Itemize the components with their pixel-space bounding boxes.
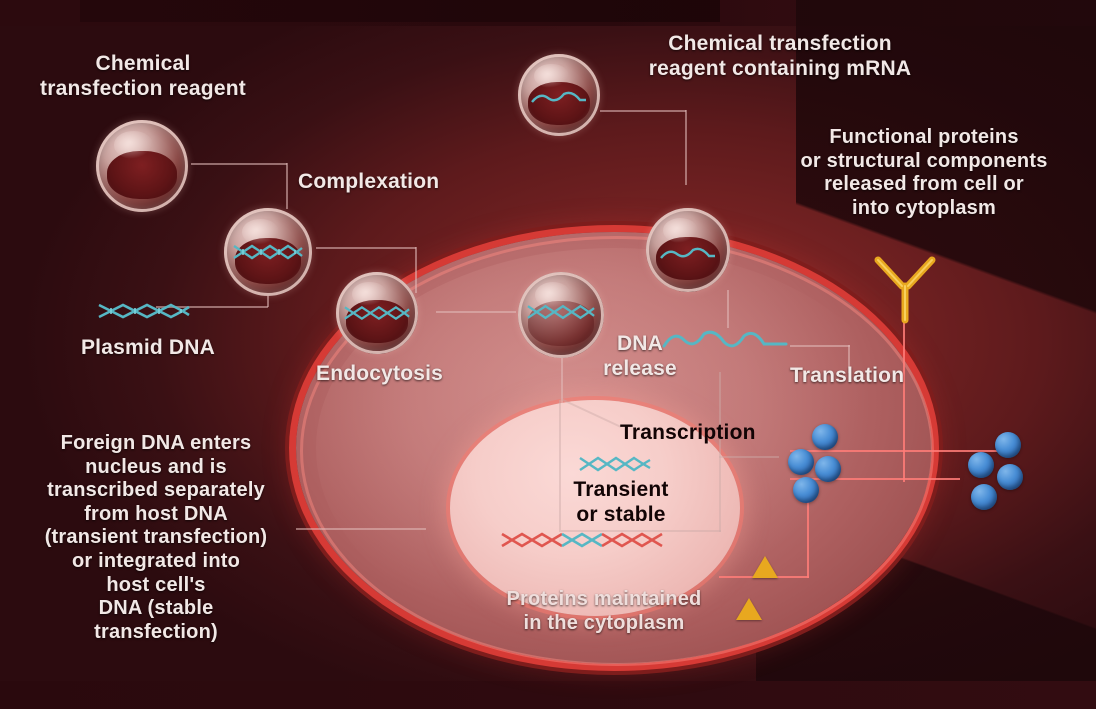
mrna-strand-icon: [530, 90, 588, 106]
connector-membrane-to-mrna: [727, 290, 729, 328]
label-endocytosis: Endocytosis: [316, 362, 443, 387]
connector-protein-export-bottom: [790, 478, 960, 480]
connector-complex-to-endocytosis-drop: [415, 247, 417, 293]
vesicle-mrna-outside[interactable]: [518, 54, 600, 136]
label-translation: Translation: [790, 364, 904, 389]
mrna-strand-icon: [658, 246, 718, 262]
connector-mrna-to-translation: [790, 345, 850, 347]
connector-transcript-to-translation: [719, 456, 779, 458]
connector-reagent-to-complex-drop: [286, 163, 288, 209]
bottom-background-band: [0, 681, 1096, 709]
connector-foreign-dna-to-nucleus: [296, 528, 426, 530]
dna-strand-icon: [343, 303, 411, 323]
label-complexation: Complexation: [298, 170, 439, 195]
connector-protein-export-top: [790, 450, 998, 452]
dna-strand-icon: [526, 302, 596, 322]
protein-bead-icon: [968, 452, 994, 478]
connector-mrna-outside: [600, 110, 686, 112]
protein-bead-icon: [995, 432, 1021, 458]
diagram-canvas: Chemical transfection reagent Plasmid DN…: [0, 0, 1096, 709]
connector-reagent-to-complex: [191, 163, 287, 165]
protein-triangle-icon: [752, 556, 778, 578]
protein-bead-icon: [788, 449, 814, 475]
vesicle-highlight: [114, 131, 153, 159]
vesicle-mrna-at-membrane[interactable]: [646, 208, 730, 292]
label-functional-proteins: Functional proteins or structural compon…: [764, 126, 1084, 220]
label-reagent-containing-mrna: Chemical transfection reagent containing…: [608, 32, 952, 82]
protein-triangle-icon: [736, 598, 762, 620]
vesicle-highlight: [242, 219, 279, 245]
connector-complex-to-endocytosis: [316, 247, 416, 249]
label-transient-or-stable: Transient or stable: [548, 478, 694, 528]
vesicle-complexed-dna[interactable]: [224, 208, 312, 296]
protein-bead-icon: [793, 477, 819, 503]
protein-bead-icon: [997, 464, 1023, 490]
host-dna-strand-icon: [500, 530, 670, 550]
connector-mrna-outside-drop: [685, 110, 687, 185]
antibody-icon: [868, 252, 942, 326]
label-proteins-cytoplasm: Proteins maintained in the cytoplasm: [474, 588, 734, 635]
connector-cytoplasm-proteins-v: [807, 490, 809, 578]
label-foreign-dna: Foreign DNA enters nucleus and is transc…: [16, 432, 296, 644]
label-dna-release: DNA release: [592, 332, 688, 382]
connector-endocytosis-to-release: [436, 311, 516, 313]
connector-antibody-stem: [903, 322, 905, 482]
protein-bead-icon: [815, 456, 841, 482]
nucleus-plasmid-dna-icon: [578, 455, 652, 473]
vesicle-highlight: [534, 64, 568, 89]
plasmid-dna-strand-icon: [96, 300, 192, 322]
label-plasmid-dna: Plasmid DNA: [42, 336, 254, 361]
protein-bead-icon: [971, 484, 997, 510]
label-transcription: Transcription: [620, 421, 756, 446]
label-chemical-reagent: Chemical transfection reagent: [12, 52, 274, 102]
vesicle-endocytosis[interactable]: [336, 272, 418, 354]
dna-strand-icon: [232, 242, 304, 262]
protein-bead-icon: [812, 424, 838, 450]
vesicle-chemical-reagent[interactable]: [96, 120, 188, 212]
connector-transcription-right: [719, 372, 721, 532]
top-dark-band: [80, 0, 720, 22]
